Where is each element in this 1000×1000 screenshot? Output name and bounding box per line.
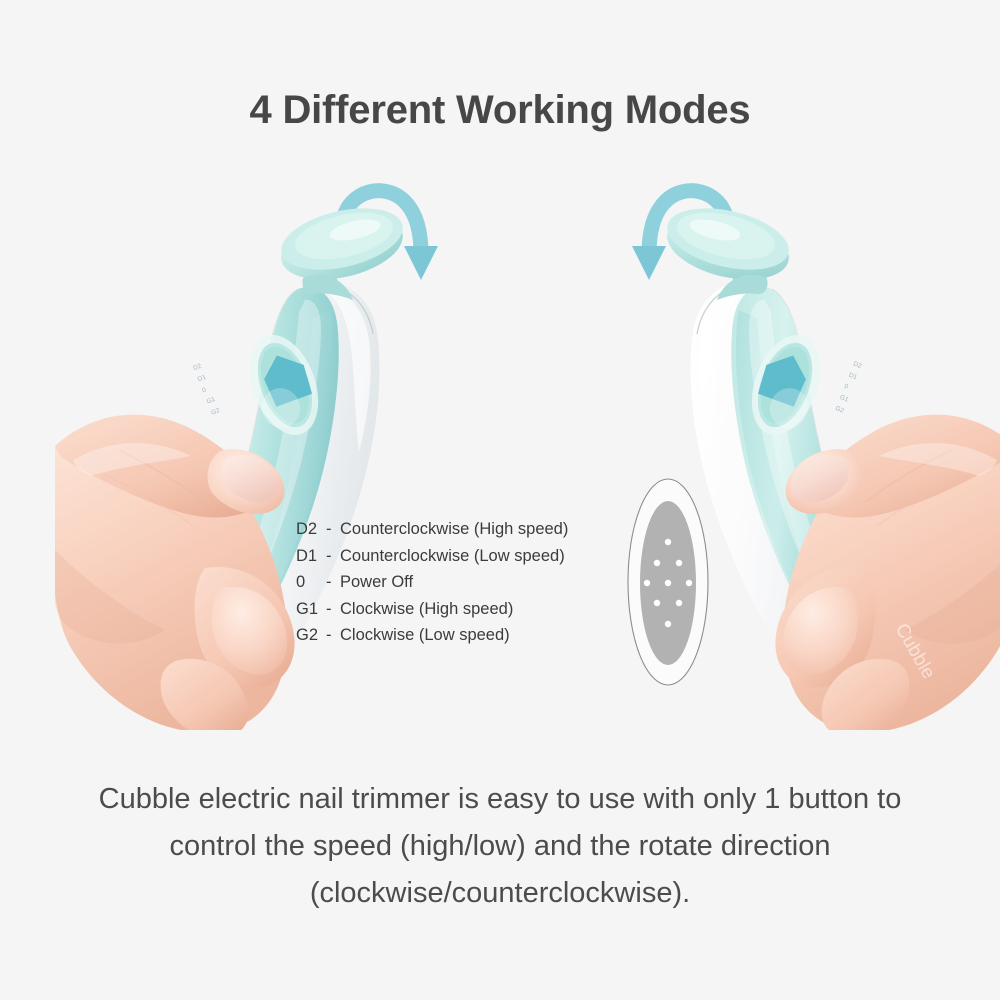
- svg-text:G2: G2: [834, 405, 845, 415]
- mode-code: D2: [296, 520, 326, 539]
- mode-label: Clockwise (High speed): [340, 600, 513, 619]
- svg-text:G1: G1: [839, 394, 850, 404]
- svg-text:D2: D2: [192, 362, 203, 372]
- svg-text:0: 0: [201, 387, 207, 395]
- hand-holding-device: [55, 415, 295, 730]
- mode-row: D2 - Counterclockwise (High speed): [296, 520, 626, 547]
- mode-code: G2: [296, 626, 326, 645]
- mode-dash: -: [326, 600, 340, 619]
- svg-text:G1: G1: [206, 396, 217, 406]
- mode-dash: -: [326, 573, 340, 592]
- svg-text:D2: D2: [852, 361, 863, 371]
- mode-dash: -: [326, 520, 340, 539]
- mode-label: Clockwise (Low speed): [340, 626, 510, 645]
- mode-code: D1: [296, 547, 326, 566]
- mode-label: Power Off: [340, 573, 413, 592]
- hand-holding-device: [775, 415, 1000, 730]
- mode-row: G2 - Clockwise (Low speed): [296, 626, 626, 653]
- grinder-pad-attachment: [626, 477, 710, 687]
- mode-label: Counterclockwise (Low speed): [340, 547, 565, 566]
- page-title: 4 Different Working Modes: [0, 88, 1000, 133]
- mode-markings: D2 D1 0 G1 G2: [834, 361, 863, 415]
- svg-text:0: 0: [843, 383, 849, 391]
- mode-row: 0 - Power Off: [296, 573, 626, 600]
- svg-text:D1: D1: [848, 372, 859, 382]
- mode-code: G1: [296, 600, 326, 619]
- svg-text:D1: D1: [197, 374, 208, 384]
- mode-label: Counterclockwise (High speed): [340, 520, 568, 539]
- product-infographic: 4 Different Working Modes: [0, 0, 1000, 1000]
- mode-row: D1 - Counterclockwise (Low speed): [296, 547, 626, 574]
- mode-row: G1 - Clockwise (High speed): [296, 600, 626, 627]
- working-modes-legend: D2 - Counterclockwise (High speed) D1 - …: [296, 520, 626, 653]
- svg-text:G2: G2: [210, 407, 221, 417]
- mode-markings: D2 D1 0 G1 G2: [192, 362, 221, 416]
- mode-dash: -: [326, 626, 340, 645]
- mode-code: 0: [296, 573, 326, 592]
- product-description-caption: Cubble electric nail trimmer is easy to …: [60, 776, 940, 917]
- mode-dash: -: [326, 547, 340, 566]
